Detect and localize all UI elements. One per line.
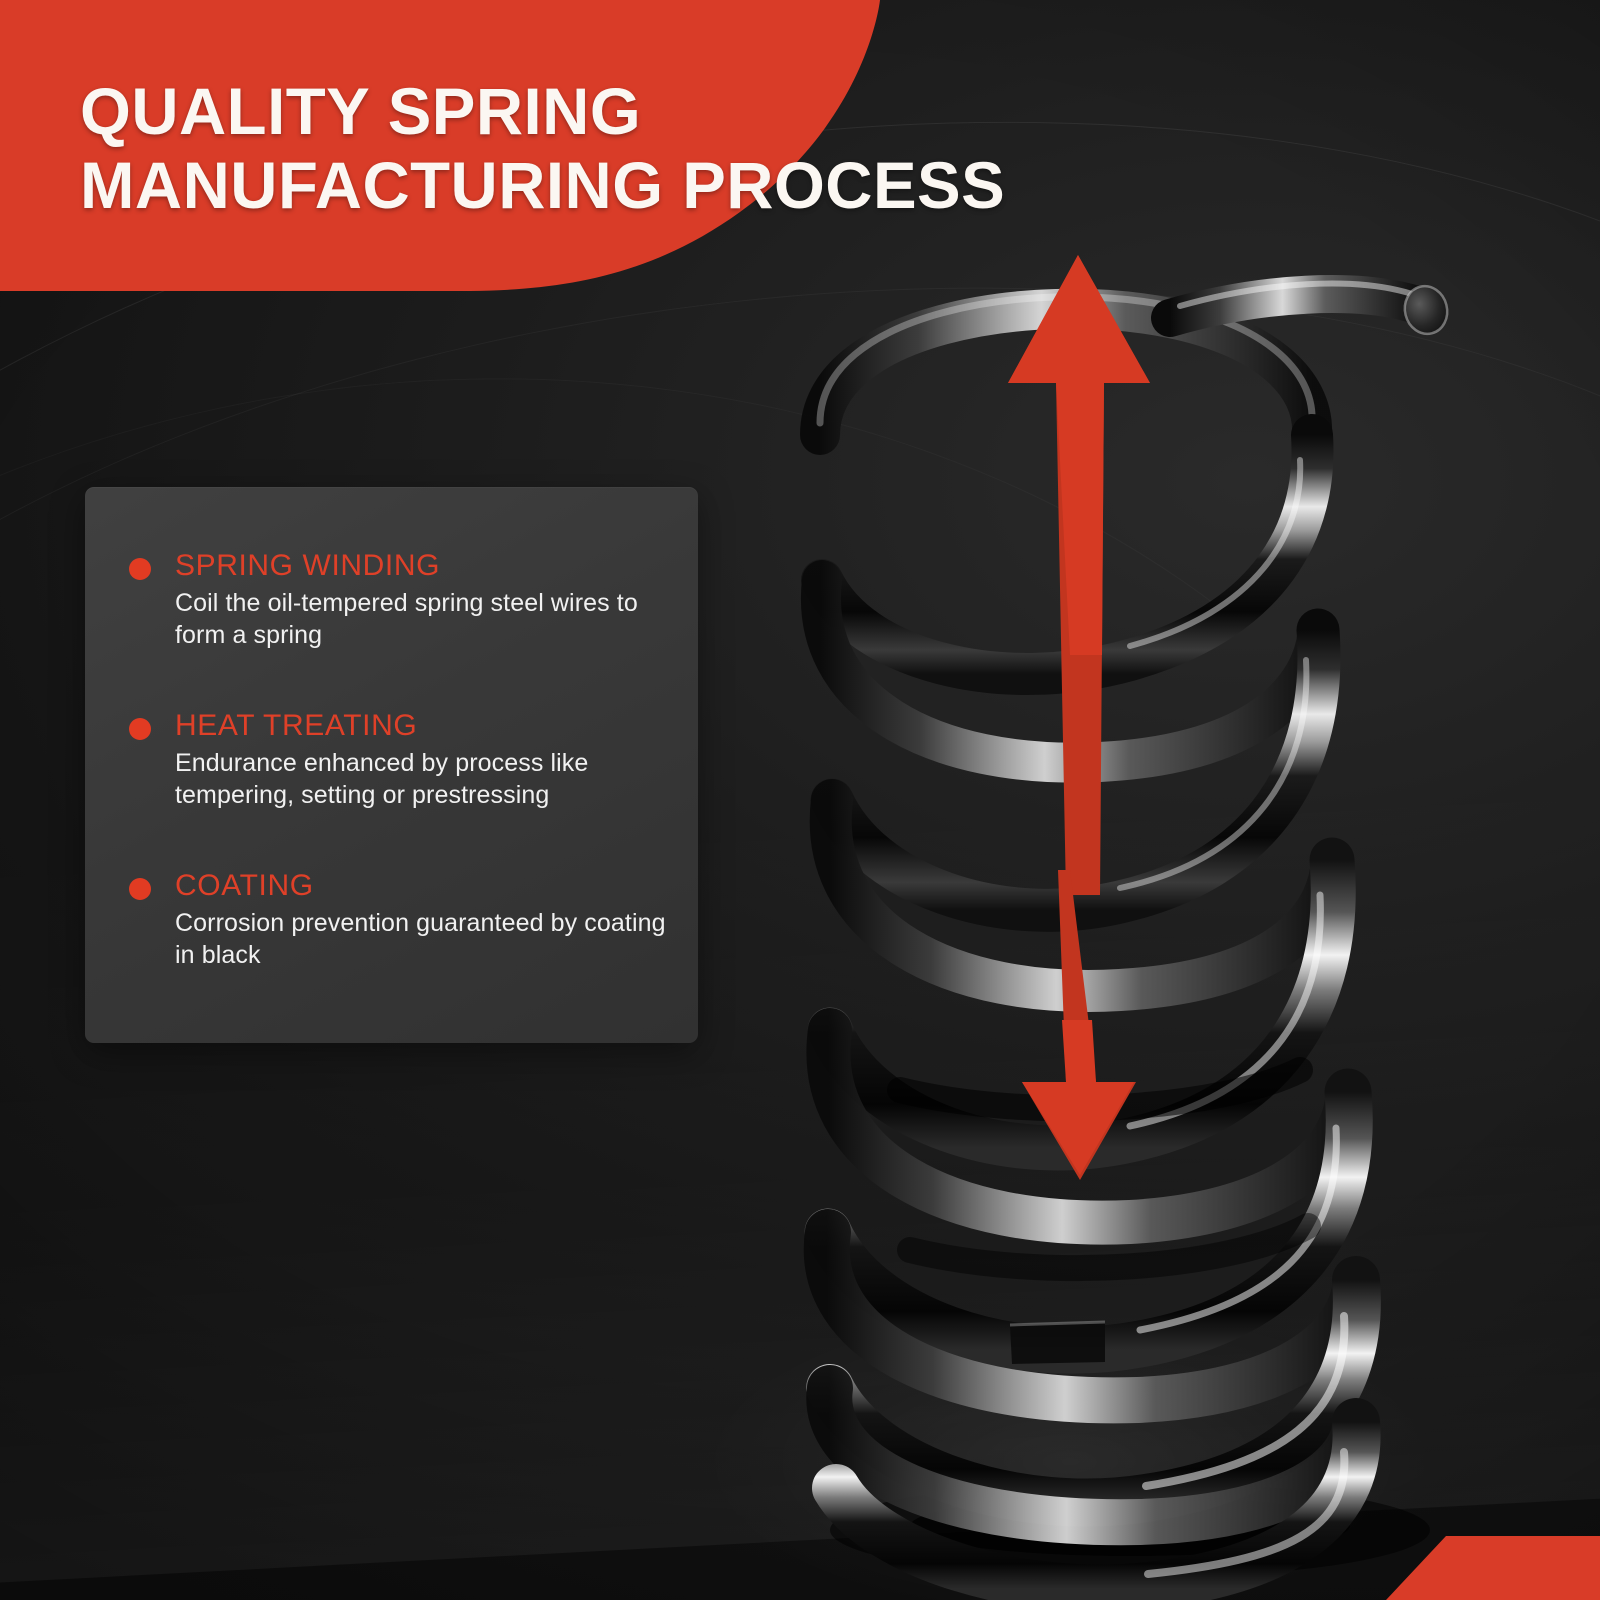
spec-description: Coil the oil-tempered spring steel wires… — [175, 587, 680, 651]
title-line-1: QUALITY SPRING — [80, 74, 1525, 148]
spec-title: HEAT TREATING — [175, 709, 698, 743]
list-item: SPRING WINDING Coil the oil-tempered spr… — [125, 549, 698, 651]
spec-description: Endurance enhanced by process like tempe… — [175, 747, 680, 811]
arrow-down-icon — [1000, 870, 1160, 1180]
arrow-up-icon — [1000, 255, 1160, 895]
dot-icon — [129, 718, 151, 740]
title-line-2: MANUFACTURING PROCESS — [80, 148, 1525, 222]
spec-panel: SPRING WINDING Coil the oil-tempered spr… — [85, 487, 698, 1043]
dot-icon — [129, 878, 151, 900]
spec-description: Corrosion prevention guaranteed by coati… — [175, 907, 680, 971]
spec-title: COATING — [175, 869, 698, 903]
page-title: QUALITY SPRING MANUFACTURING PROCESS — [80, 74, 1540, 222]
list-item: COATING Corrosion prevention guaranteed … — [125, 869, 698, 971]
poster-canvas: QUALITY SPRING MANUFACTURING PROCESS — [0, 0, 1600, 1600]
dot-icon — [129, 558, 151, 580]
spec-title: SPRING WINDING — [175, 549, 698, 583]
list-item: HEAT TREATING Endurance enhanced by proc… — [125, 709, 698, 811]
